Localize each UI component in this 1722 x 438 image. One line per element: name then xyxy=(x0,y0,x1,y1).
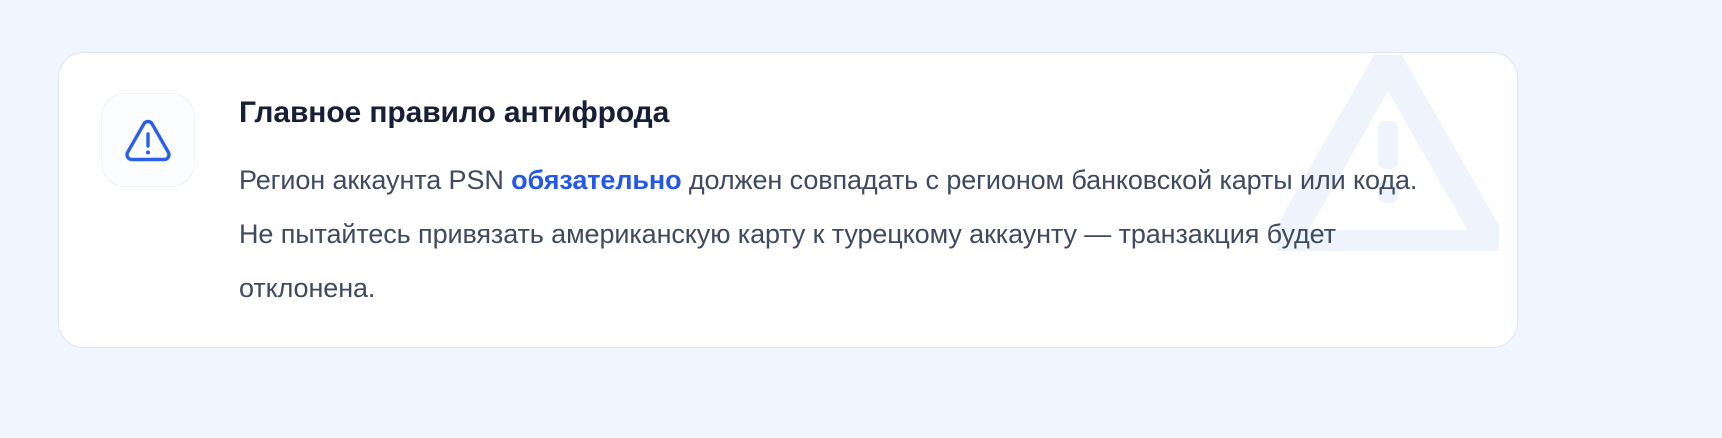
alert-body-text: Регион аккаунта PSN обязательно должен с… xyxy=(239,153,1454,315)
page-root: Главное правило антифрода Регион аккаунт… xyxy=(0,0,1722,438)
alert-body-lead: Регион аккаунта PSN xyxy=(239,165,511,195)
warning-triangle-icon xyxy=(121,113,175,167)
alert-content-row: Главное правило антифрода Регион аккаунт… xyxy=(59,53,1517,347)
alert-title: Главное правило антифрода xyxy=(239,95,1477,131)
alert-text-column: Главное правило антифрода Регион аккаунт… xyxy=(239,91,1477,315)
antifraud-alert-card: Главное правило антифрода Регион аккаунт… xyxy=(58,52,1518,348)
alert-body-emphasis: обязательно xyxy=(511,165,681,195)
alert-icon-tile xyxy=(101,93,195,187)
